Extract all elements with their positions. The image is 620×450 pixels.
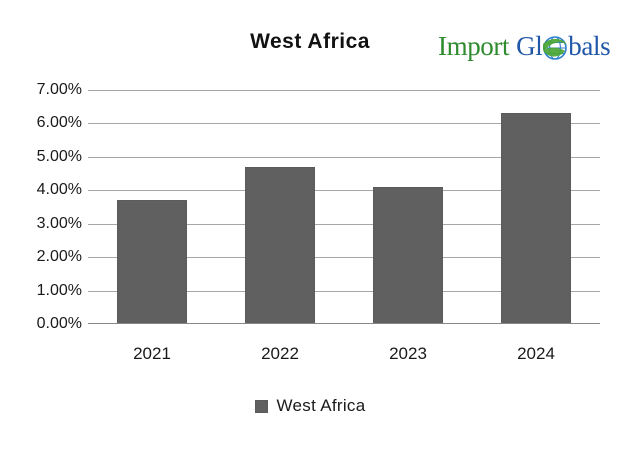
y-tick-label: 2.00%	[2, 248, 82, 266]
legend-label: West Africa	[277, 396, 366, 416]
y-tick-label: 4.00%	[2, 181, 82, 199]
logo-text-gl: Gl	[516, 31, 542, 62]
legend-swatch	[255, 400, 268, 413]
bar	[245, 167, 314, 324]
chart-legend: West Africa	[0, 396, 620, 416]
x-axis-line	[88, 323, 600, 324]
import-globals-logo: Import Gl bals	[438, 28, 610, 64]
globe-icon	[542, 35, 568, 61]
y-tick-label: 5.00%	[2, 148, 82, 166]
x-tick-label: 2021	[133, 344, 171, 364]
bar-chart-figure: West Africa Import Gl bals 7.00%6.00%5.0…	[0, 0, 620, 450]
y-tick-label: 0.00%	[2, 315, 82, 333]
x-axis: 2021202220232024	[88, 344, 600, 372]
plot-area	[88, 90, 600, 324]
logo-text-import: Import	[438, 31, 509, 62]
bar	[501, 113, 570, 324]
y-tick-label: 3.00%	[2, 215, 82, 233]
bar	[373, 187, 442, 324]
y-tick-label: 7.00%	[2, 81, 82, 99]
y-tick-label: 6.00%	[2, 114, 82, 132]
x-tick-label: 2022	[261, 344, 299, 364]
x-tick-label: 2023	[389, 344, 427, 364]
chart-title: West Africa	[160, 30, 460, 54]
y-tick-label: 1.00%	[2, 282, 82, 300]
y-axis: 7.00%6.00%5.00%4.00%3.00%2.00%1.00%0.00%	[0, 90, 82, 324]
bar	[117, 200, 186, 324]
bars-layer	[88, 90, 600, 324]
logo-text-bals: bals	[568, 31, 610, 62]
x-tick-label: 2024	[517, 344, 555, 364]
